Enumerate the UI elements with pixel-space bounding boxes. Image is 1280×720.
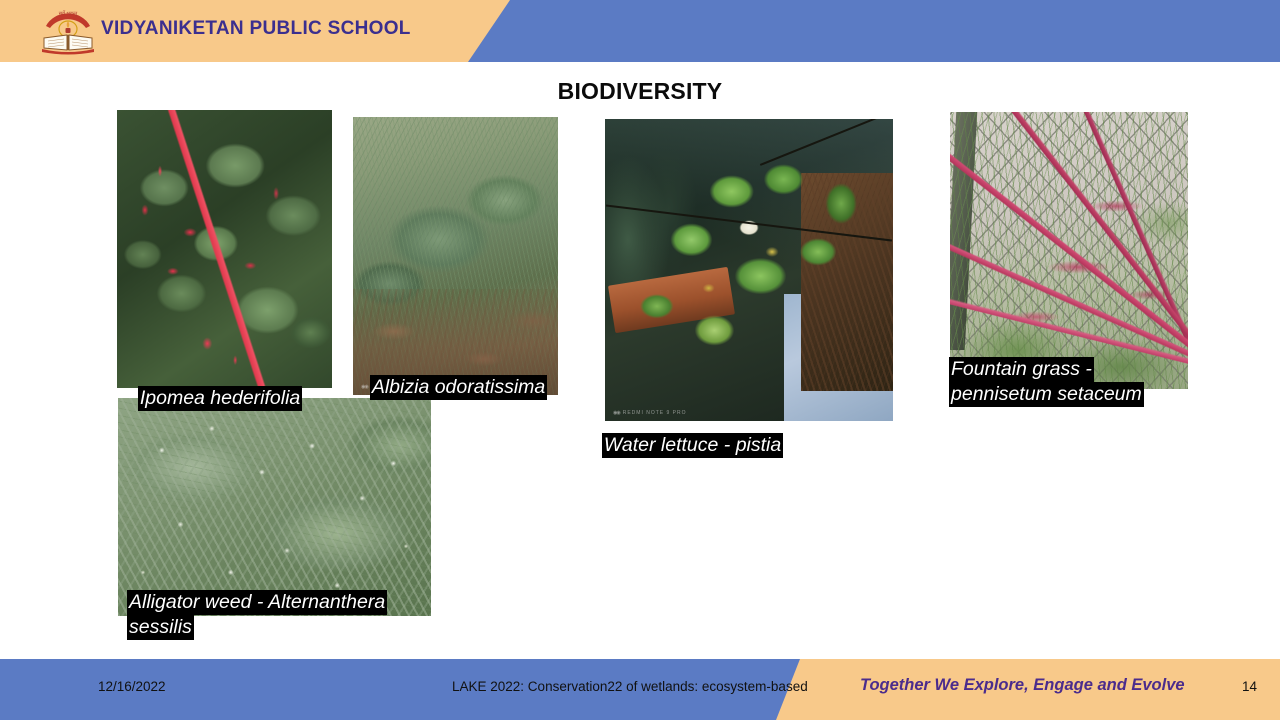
caption-alligator-weed: Alligator weed - Alternanthera sessilis [127, 590, 427, 640]
alligator-weed-buds-layer [118, 398, 431, 616]
fountain-grass-plumes-layer [950, 112, 1188, 389]
water-lettuce-rosette-layer [605, 119, 893, 421]
ipomea-red-flowers-layer [117, 110, 332, 388]
photo-ipomea-hederifolia[interactable] [117, 110, 332, 388]
school-crest-lamp-book-icon: सर्वे भवन्तु [40, 6, 96, 56]
page-title: BIODIVERSITY [0, 78, 1280, 105]
caption-albizia-odoratissima: Albizia odoratissima [359, 350, 547, 400]
photo-fountain-grass[interactable] [950, 112, 1188, 389]
caption-ipomea-hederifolia: Ipomea hederifolia [127, 361, 302, 411]
school-name: VIDYANIKETAN PUBLIC SCHOOL [101, 18, 411, 40]
svg-text:सर्वे भवन्तु: सर्वे भवन्तु [59, 10, 78, 17]
caption-text: Alligator weed - Alternanthera sessilis [127, 590, 387, 640]
footer-tagline: Together We Explore, Engage and Evolve [860, 676, 1185, 695]
caption-text: Water lettuce - pistia [602, 433, 783, 458]
caption-fountain-grass: Fountain grass - pennisetum setaceum [949, 357, 1163, 407]
footer-date: 12/16/2022 [98, 679, 166, 694]
slide-header: सर्वे भवन्तु VIDYANIKETAN PUBLIC SCHOOL [0, 0, 1280, 62]
footer-page-number: 14 [1242, 679, 1257, 694]
photo-alligator-weed[interactable] [118, 398, 431, 616]
caption-water-lettuce: Water lettuce - pistia [591, 408, 783, 458]
caption-text: Albizia odoratissima [370, 375, 547, 400]
caption-text: Ipomea hederifolia [138, 386, 302, 411]
caption-text: Fountain grass - pennisetum setaceum [949, 357, 1144, 407]
photo-water-lettuce[interactable]: ◉◉REDMI NOTE 9 PRO [605, 119, 893, 421]
footer-center-text: LAKE 2022: Conservation22 of wetlands: e… [452, 679, 808, 694]
